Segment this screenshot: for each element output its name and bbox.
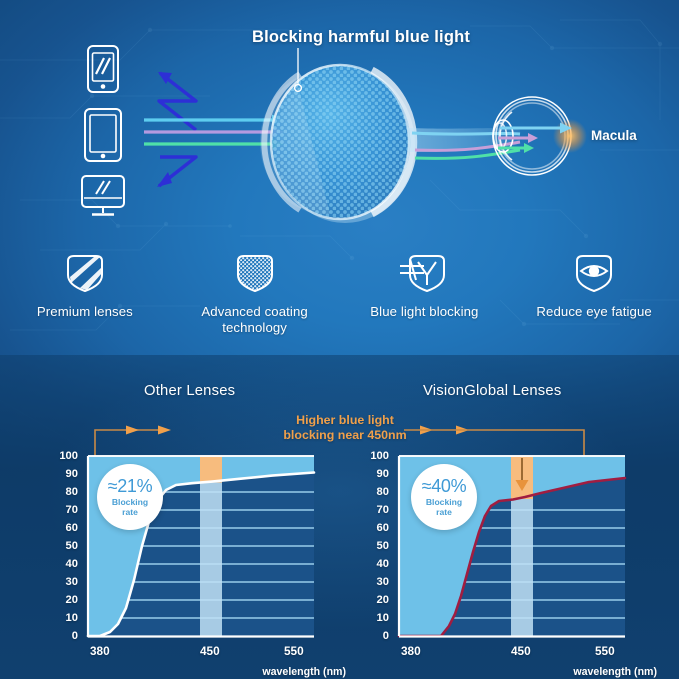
chart-other-lenses: 100 90 80 70 60 50 40 30 20 10 0 380 450… — [52, 448, 352, 679]
y-tick-50: 50 — [48, 540, 78, 552]
y-tick-50: 50 — [359, 540, 389, 552]
feature-item-premium-lenses: Premium lenses — [0, 252, 170, 352]
y-tick-100: 100 — [359, 450, 389, 462]
y-tick-90: 90 — [48, 468, 78, 480]
feature-item-reduce-eye-fatigue: Reduce eye fatigue — [509, 252, 679, 352]
y-tick-30: 30 — [48, 576, 78, 588]
premium-lens-icon — [60, 252, 110, 296]
badge-percent: ≈21% — [108, 477, 153, 495]
y-tick-0: 0 — [48, 630, 78, 642]
infographic-page: Blocking harmful blue light Macula Premi… — [0, 0, 679, 679]
outgoing-beams — [408, 128, 520, 158]
chart-title-other-lenses: Other Lenses — [144, 383, 235, 399]
phone-icon — [88, 46, 118, 92]
feature-item-blue-light-blocking: Blue light blocking — [340, 252, 510, 352]
y-tick-70: 70 — [48, 504, 78, 516]
badge-sub-line-2: rate — [436, 507, 452, 517]
badge-subtitle: Blocking rate — [426, 498, 462, 517]
x-axis-label: wavelength (nm) — [573, 666, 657, 678]
coating-mesh-icon — [230, 252, 280, 296]
chart-title-visionglobal: VisionGlobal Lenses — [423, 383, 561, 399]
hero-section: Blocking harmful blue light Macula — [0, 0, 679, 250]
monitor-icon — [82, 176, 124, 215]
x-tick-550: 550 — [284, 644, 304, 658]
x-tick-380: 380 — [401, 644, 421, 658]
badge-subtitle: Blocking rate — [112, 498, 148, 517]
y-tick-0: 0 — [359, 630, 389, 642]
x-tick-550: 550 — [595, 644, 615, 658]
tablet-icon — [85, 109, 121, 161]
y-tick-10: 10 — [48, 612, 78, 624]
feature-label: Reduce eye fatigue — [536, 304, 651, 320]
annotation-line-1: Higher blue light — [281, 413, 409, 428]
feature-label: Premium lenses — [37, 304, 133, 320]
y-tick-20: 20 — [48, 594, 78, 606]
chart-visionglobal-lenses: 100 90 80 70 60 50 40 30 20 10 0 380 450… — [363, 448, 663, 679]
x-tick-380: 380 — [90, 644, 110, 658]
y-tick-60: 60 — [48, 522, 78, 534]
x-tick-450: 450 — [200, 644, 220, 658]
badge-sub-line-2: rate — [122, 507, 138, 517]
y-tick-70: 70 — [359, 504, 389, 516]
feature-label: Advanced coating technology — [180, 304, 330, 336]
y-tick-40: 40 — [48, 558, 78, 570]
badge-percent: ≈40% — [422, 477, 467, 495]
annotation-line-2: blocking near 450nm — [281, 428, 409, 443]
eye-fatigue-icon — [569, 252, 619, 296]
y-tick-20: 20 — [359, 594, 389, 606]
annotation-text: Higher blue light blocking near 450nm — [281, 413, 409, 442]
macula-glow — [553, 119, 587, 153]
y-tick-80: 80 — [48, 486, 78, 498]
y-tick-30: 30 — [359, 576, 389, 588]
hero-title: Blocking harmful blue light — [252, 28, 470, 47]
feature-list: Premium lenses Advanced coating technolo… — [0, 252, 679, 352]
x-tick-450: 450 — [511, 644, 531, 658]
y-tick-90: 90 — [359, 468, 389, 480]
feature-label: Blue light blocking — [370, 304, 478, 320]
y-tick-10: 10 — [359, 612, 389, 624]
blue-light-block-icon — [396, 252, 452, 296]
macula-label: Macula — [591, 128, 637, 143]
y-tick-40: 40 — [359, 558, 389, 570]
y-tick-100: 100 — [48, 450, 78, 462]
feature-item-advanced-coating: Advanced coating technology — [170, 252, 340, 352]
coated-lens-icon — [260, 48, 415, 223]
band-450nm-orange — [200, 456, 222, 483]
y-tick-60: 60 — [359, 522, 389, 534]
blocking-rate-badge: ≈21% Blocking rate — [97, 464, 163, 530]
blocking-rate-badge: ≈40% Blocking rate — [411, 464, 477, 530]
y-tick-80: 80 — [359, 486, 389, 498]
x-axis-label: wavelength (nm) — [262, 666, 346, 678]
